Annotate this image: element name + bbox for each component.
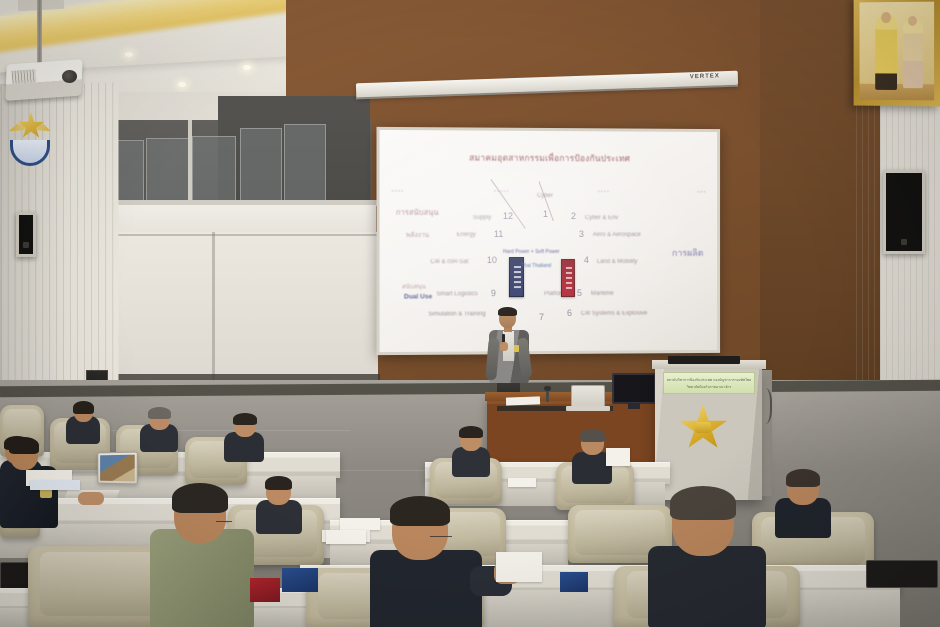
attendee-body bbox=[370, 550, 482, 627]
slide-row-left-num: 12 bbox=[503, 211, 513, 221]
slide-row-right-label: C4I Systems & Explosive bbox=[581, 311, 647, 317]
screen-brand-label: VERTEX bbox=[690, 73, 720, 80]
attendee-hair bbox=[786, 469, 820, 487]
slide-row-left-label: Supply bbox=[473, 215, 491, 221]
slide-center-top-label: Cyber bbox=[537, 193, 553, 199]
portrait-head-left bbox=[881, 12, 891, 23]
slide-row-right-label: Cyber & Env bbox=[585, 215, 618, 221]
glass-pane bbox=[240, 128, 282, 202]
attendee-body bbox=[452, 447, 490, 477]
attendee-hair bbox=[148, 407, 171, 419]
slide-row-left-label: C4I & ISR-Sat bbox=[430, 259, 468, 265]
slide-center-num-b: 7 bbox=[539, 312, 544, 322]
slide-row-right-label: Aero & Aerospace bbox=[593, 232, 641, 238]
desk-papers bbox=[30, 480, 80, 490]
desk-tablet bbox=[866, 560, 938, 588]
slide-row-right-num: 6 bbox=[567, 308, 572, 318]
attendee-hair bbox=[233, 413, 257, 425]
podium-star-center-icon bbox=[695, 422, 711, 433]
attendee-hair bbox=[265, 476, 292, 490]
slide-row-right-label: Maritime bbox=[591, 291, 614, 297]
presenter-hair bbox=[498, 307, 517, 316]
glass-pane bbox=[192, 136, 236, 202]
wall-seam-vertical bbox=[212, 232, 215, 382]
window-mullion bbox=[188, 120, 192, 208]
desk-papers bbox=[506, 396, 540, 405]
emblem-band-icon bbox=[10, 140, 50, 166]
attendee-laptop bbox=[97, 452, 137, 485]
portrait-head-right bbox=[908, 16, 917, 26]
attendee-hair bbox=[670, 486, 736, 520]
slide-row-left-num: 9 bbox=[491, 288, 496, 298]
attendee-hair bbox=[9, 437, 39, 454]
slide-row-left-label: Smart Logistics bbox=[436, 291, 477, 297]
portrait-canvas bbox=[859, 2, 934, 101]
royal-portrait-gold-frame bbox=[854, 0, 940, 107]
podium-cable bbox=[756, 388, 772, 424]
slide-surface: สมาคมอุตสาหกรรมเพื่อการป้องกันประเทศ • •… bbox=[380, 130, 718, 352]
military-crest-emblem bbox=[7, 112, 53, 170]
desk-papers bbox=[340, 518, 380, 530]
eyeglasses-icon bbox=[216, 521, 232, 524]
slide-label-support: การสนับสนุน bbox=[396, 207, 439, 219]
red-folder bbox=[250, 578, 280, 602]
slide-row-right-num: 4 bbox=[584, 255, 589, 265]
attendee-hair bbox=[390, 496, 450, 526]
slide-row-right-num: 2 bbox=[571, 211, 576, 221]
attendee-hair bbox=[73, 401, 94, 414]
desk-laptop-base bbox=[566, 406, 610, 411]
attendee-body bbox=[256, 500, 302, 534]
laptop-screen bbox=[100, 455, 135, 482]
desk-papers bbox=[606, 448, 630, 466]
slide-center-num: 1 bbox=[543, 209, 548, 219]
conference-hall-scene: VERTEX สมาคมอุตสาหกรรมเพื่อการป้องกันประ… bbox=[0, 0, 940, 627]
recessed-downlight bbox=[243, 65, 251, 70]
attendee-hair bbox=[172, 483, 228, 513]
recessed-downlight bbox=[125, 52, 133, 57]
podium-sign-line-1: สถาบันวิชาการป้องกันประเทศ กองบัญชาการกอ… bbox=[667, 377, 751, 383]
attendee-body bbox=[648, 546, 766, 627]
slide-label-dual-use: Dual Use bbox=[404, 293, 432, 300]
desk-papers bbox=[508, 478, 536, 487]
portrait-figure-left bbox=[875, 16, 897, 90]
slide-row-left-label: Simulation & Training bbox=[428, 311, 485, 317]
presenter-hand bbox=[500, 342, 508, 351]
presenter-speaking bbox=[485, 308, 533, 404]
slide-top-cell: • • • bbox=[697, 189, 705, 195]
attendee-body bbox=[150, 529, 254, 627]
slide-connector-line bbox=[490, 179, 525, 229]
presenter-badge bbox=[514, 345, 519, 352]
slide-row-right-num: 5 bbox=[577, 288, 582, 298]
desk-papers bbox=[326, 530, 366, 544]
attendee-hair bbox=[580, 429, 605, 442]
slide-label-support2: สนับสนุน bbox=[402, 281, 426, 291]
slide-row-right-num: 3 bbox=[579, 229, 584, 239]
slide-row-left-num: 10 bbox=[487, 255, 497, 265]
slide-label-energy: พลังงาน bbox=[406, 230, 429, 240]
attendee-hair bbox=[459, 426, 483, 438]
desk-microphone-head-icon bbox=[544, 386, 551, 391]
slide-thailand-label: Thai Thailand bbox=[521, 263, 551, 269]
attendee-hand-shape bbox=[78, 492, 104, 505]
desk-monitor bbox=[612, 373, 656, 404]
desk-papers bbox=[496, 552, 542, 582]
recessed-downlight bbox=[178, 82, 186, 87]
desk-monitor-stand bbox=[628, 403, 640, 409]
slide-row-left-num: 11 bbox=[494, 229, 503, 239]
wall-speaker-left bbox=[16, 212, 36, 257]
slide-top-cell: • • • • bbox=[392, 189, 403, 195]
eyeglasses-icon bbox=[430, 536, 452, 539]
portrait-figure-right bbox=[903, 20, 923, 88]
wall-speaker-right bbox=[883, 170, 925, 254]
glass-pane bbox=[284, 124, 326, 202]
projector-vent-icon bbox=[12, 69, 37, 84]
slide-label-production: การผลิต bbox=[672, 246, 703, 260]
projection-screen: สมาคมอุตสาหกรรมเพื่อการป้องกันประเทศ • •… bbox=[377, 127, 721, 355]
blue-folder bbox=[282, 568, 318, 592]
glass-pane bbox=[146, 138, 190, 202]
slide-row-left-label: Energy bbox=[457, 232, 476, 238]
podium-monitor bbox=[668, 356, 740, 364]
slide-hard-power-label: Hard Power + Soft Power bbox=[503, 249, 560, 255]
slide-red-badge-logo bbox=[561, 259, 575, 297]
slide-top-cell: • • • • bbox=[598, 189, 609, 195]
blue-folder bbox=[560, 572, 588, 592]
wall-panel-lower bbox=[88, 232, 378, 382]
podium-institution-sign: สถาบันวิชาการป้องกันประเทศ กองบัญชาการกอ… bbox=[663, 372, 755, 394]
slide-title: สมาคมอุตสาหกรรมเพื่อการป้องกันประเทศ bbox=[380, 150, 718, 166]
wall-seam-horizontal bbox=[88, 234, 378, 236]
slide-row-right-label: Land & Mobility bbox=[597, 259, 638, 265]
projector-mount-rod bbox=[37, 0, 42, 66]
podium-sign-line-2: วิทยาลัยป้องกันราชอาณาจักร bbox=[687, 384, 732, 390]
